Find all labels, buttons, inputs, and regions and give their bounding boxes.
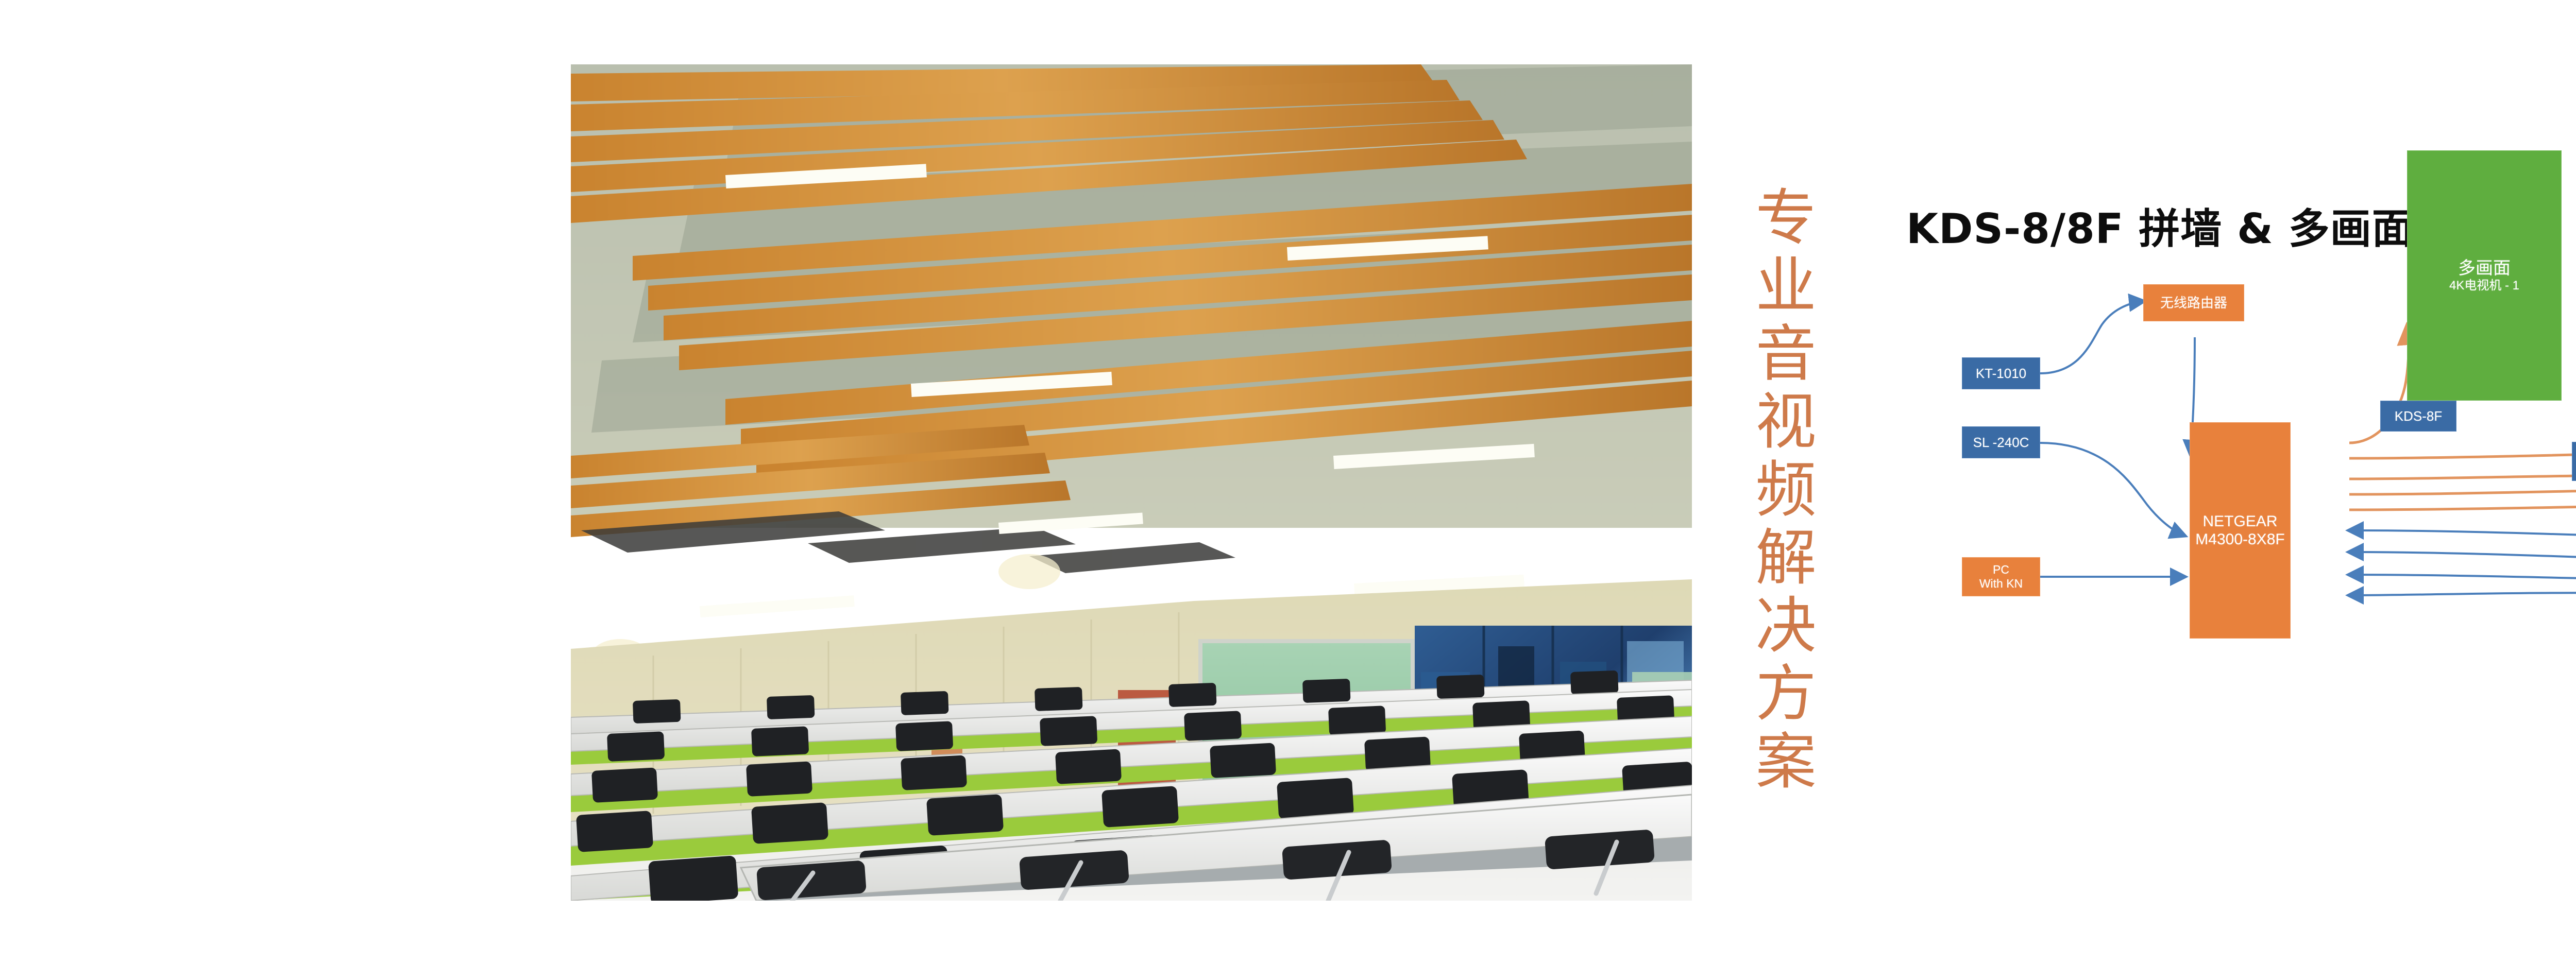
photo-illustration <box>571 64 1692 901</box>
node-sl-240c-label: SL -240C <box>1973 435 2029 451</box>
node-netgear-label-line2: M4300-8X8F <box>2195 530 2284 548</box>
node-pc-label-line2: With KN <box>1979 577 2023 591</box>
node-kt-1010-label: KT-1010 <box>1976 366 2026 382</box>
node-multiview-display[interactable]: 多画面 4K电视机 - 1 <box>2407 150 2562 401</box>
decoder-kds-8f-multiview[interactable]: KDS-8F <box>2380 401 2456 432</box>
node-netgear-label-line1: NETGEAR <box>2202 512 2277 530</box>
node-multiview-label-line1: 多画面 <box>2458 258 2511 279</box>
node-pc-label-line1: PC <box>1993 563 2009 577</box>
node-wireless-router[interactable]: 无线路由器 <box>2143 284 2244 321</box>
network-diagram: KDS-8/8F 拼墙 & 多画面 <box>1886 170 2576 860</box>
node-sl-240c[interactable]: SL -240C <box>1962 426 2040 458</box>
decoder-kds-8f-1[interactable]: KDS-8F <box>2572 442 2576 481</box>
node-multiview-label-line2: 4K电视机 - 1 <box>2449 279 2519 293</box>
node-kt-1010[interactable]: KT-1010 <box>1962 357 2040 389</box>
node-wireless-router-label: 无线路由器 <box>2160 295 2227 311</box>
node-pc-with-kn[interactable]: PC With KN <box>1962 557 2040 596</box>
node-netgear-switch[interactable]: NETGEAR M4300-8X8F <box>2190 422 2291 639</box>
vertical-headline: 专业音视频解决方案 <box>1737 185 1815 865</box>
decoder-kds-8f-multiview-label: KDS-8F <box>2395 408 2442 424</box>
lecture-hall-photo <box>571 64 1692 901</box>
